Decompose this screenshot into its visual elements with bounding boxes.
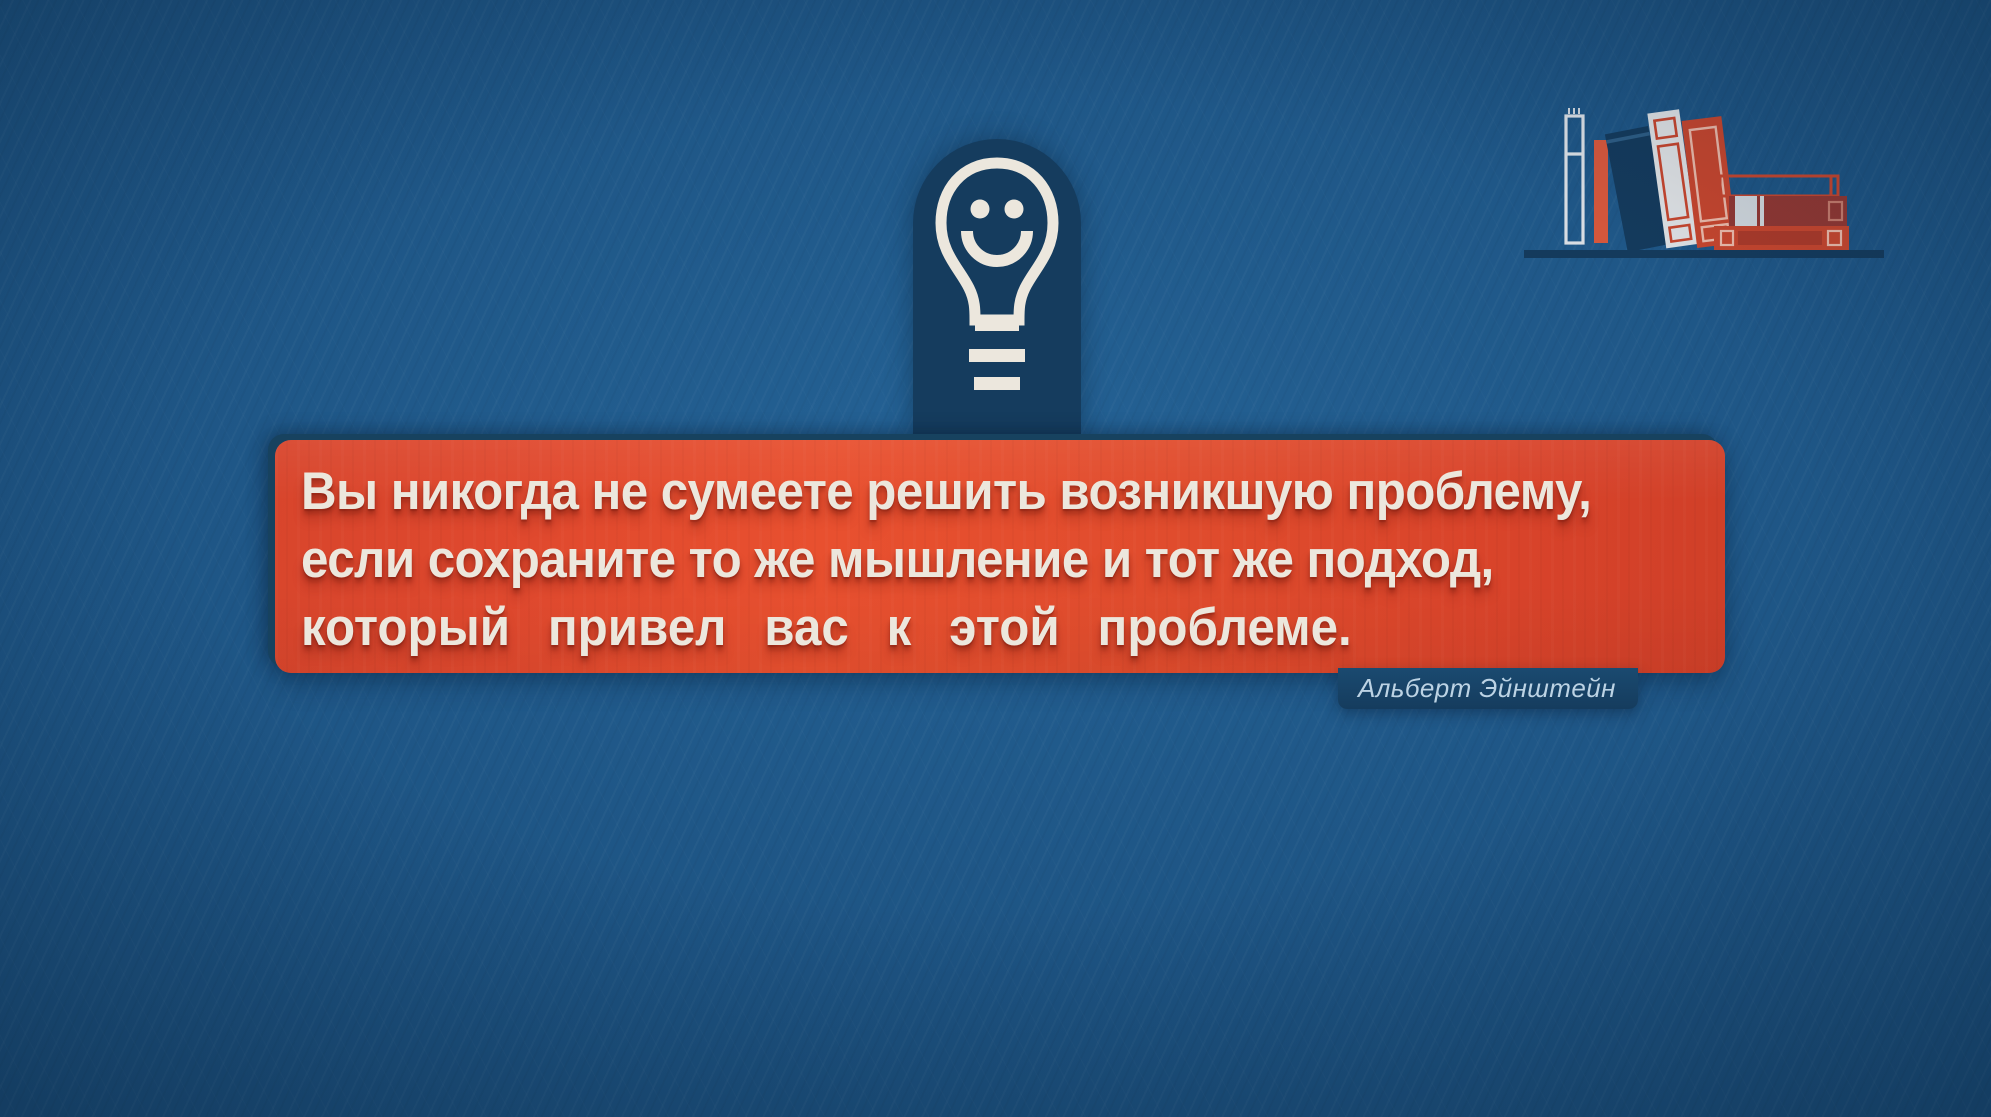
bookshelf-icon (1524, 88, 1884, 258)
wallpaper-canvas: Вы никогда не сумеете решить возникшую п… (0, 0, 1991, 1117)
quote-line-2: если сохраните то же мышление и тот же п… (301, 526, 1601, 594)
quote-line-3: который привел вас к этой проблеме. (301, 594, 1601, 662)
list-item (1566, 108, 1583, 243)
quote-text-block: Вы никогда не сумеете решить возникшую п… (275, 440, 1725, 662)
lightbulb-panel (913, 139, 1081, 439)
list-item (1714, 226, 1849, 250)
lightbulb-smiley-icon (927, 149, 1067, 434)
quote-author-label: Альберт Эйнштейн (1358, 673, 1616, 704)
quote-banner: Вы никогда не сумеете решить возникшую п… (275, 440, 1725, 673)
list-item (1729, 196, 1847, 226)
list-item (1594, 140, 1608, 243)
quote-attribution-tab: Альберт Эйнштейн (1338, 668, 1638, 709)
shelf-plank (1524, 250, 1884, 258)
list-item (1720, 176, 1838, 196)
quote-line-1: Вы никогда не сумеете решить возникшую п… (301, 458, 1601, 526)
